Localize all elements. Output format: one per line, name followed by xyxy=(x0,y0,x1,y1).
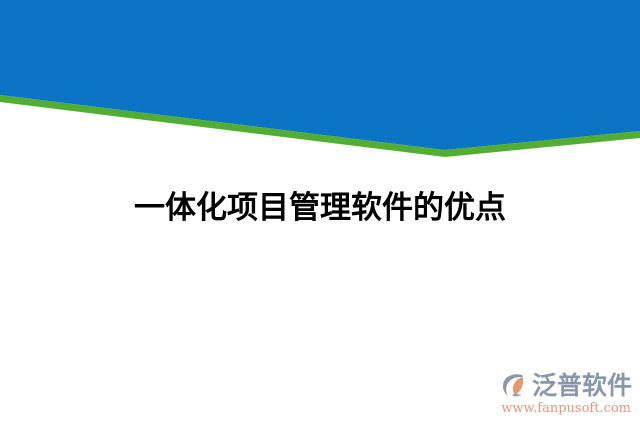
title-block: 一体化项目管理软件的优点 xyxy=(0,188,640,228)
banner-green-accent-stripe xyxy=(0,95,640,157)
banner-blue-shape xyxy=(0,0,640,150)
slide-canvas: 一体化项目管理软件的优点 泛普软件 www.fanpusoft.com xyxy=(0,0,640,427)
fanpu-swoosh-logo-icon xyxy=(500,371,530,401)
chevron-banner xyxy=(0,0,640,180)
watermark-url-text: www.fanpusoft.com xyxy=(496,401,632,417)
watermark: 泛普软件 www.fanpusoft.com xyxy=(496,370,632,417)
watermark-brand-row: 泛普软件 xyxy=(496,370,632,402)
watermark-brand-text: 泛普软件 xyxy=(532,371,632,401)
page-title: 一体化项目管理软件的优点 xyxy=(134,188,506,228)
